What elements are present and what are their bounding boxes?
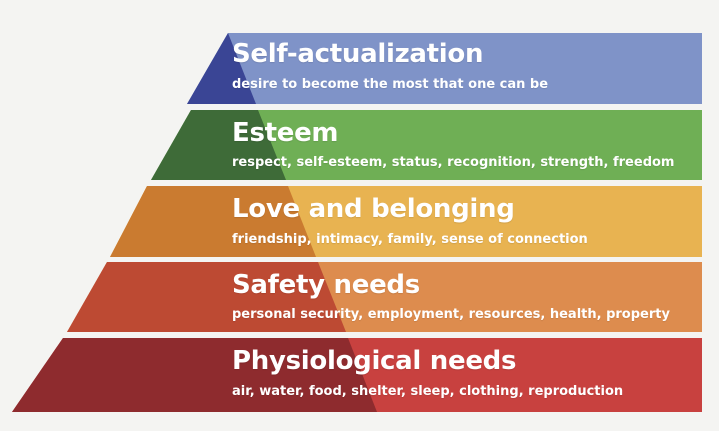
tier-esteem-light-face: [0, 110, 719, 180]
tier-love-and-belonging: [0, 186, 719, 257]
tier-self-actualization-light-face: [0, 33, 719, 104]
tier-safety-needs-shadow-face: [0, 262, 346, 332]
tier-self-actualization-shadow-face: [0, 33, 256, 104]
tier-love-and-belonging-shadow-face: [0, 186, 316, 257]
tier-esteem-shadow-face: [0, 110, 286, 180]
tier-physiological-needs-shadow-face: [0, 338, 377, 412]
tier-self-actualization: [0, 33, 719, 104]
tier-love-and-belonging-light-face: [0, 186, 719, 257]
pyramid-graphic: [0, 0, 719, 431]
maslow-pyramid-diagram: Self-actualization desire to become the …: [0, 0, 719, 431]
tier-safety-needs: [0, 262, 719, 332]
tier-esteem: [0, 110, 719, 180]
tier-physiological-needs: [0, 338, 719, 412]
